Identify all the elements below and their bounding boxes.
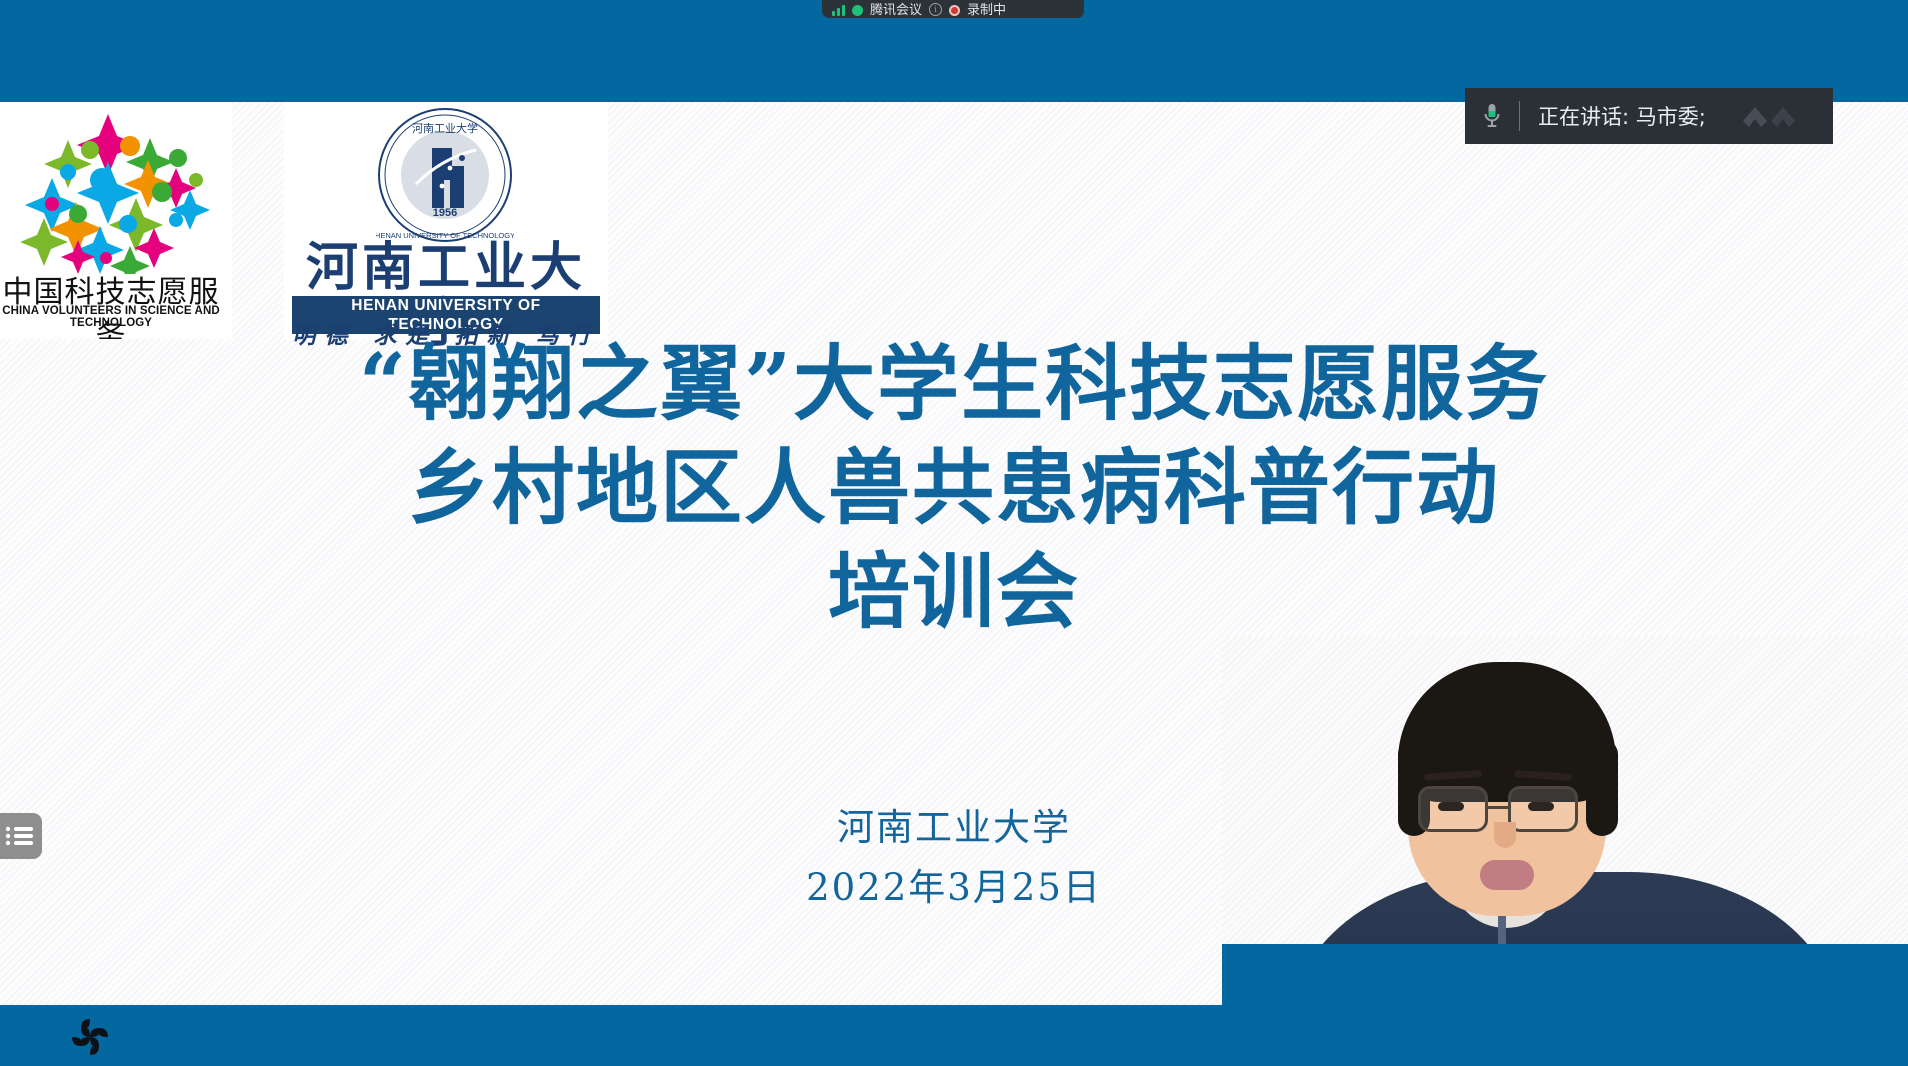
- henan-university-logo: 1956 河南工业大学 HENAN UNIVERSITY OF TECHNOLO…: [284, 102, 608, 340]
- slide-footer-band: [0, 1005, 1908, 1066]
- china-volunteers-brain-logo: [0, 106, 232, 274]
- record-dot-icon: [949, 5, 960, 16]
- outline-toggle-button[interactable]: [0, 813, 42, 859]
- china-volunteers-en-label: CHINA VOLUNTEERS IN SCIENCE AND TECHNOLO…: [0, 305, 232, 329]
- signal-bars-icon: [832, 5, 845, 16]
- title-line-2: 乡村地区人兽共患病科普行动: [0, 436, 1908, 540]
- pinwheel-logo: [72, 1019, 108, 1055]
- microphone-icon: [1465, 101, 1519, 131]
- bulleted-list-icon: [4, 825, 34, 847]
- presenter-bottom-band: [1222, 944, 1908, 1005]
- app-name-label: 腾讯会议: [870, 3, 922, 16]
- active-speaker-badge[interactable]: 正在讲话: 马市委;: [1465, 88, 1833, 144]
- presenter-video-tile[interactable]: [1222, 636, 1908, 1005]
- page-title: “翱翔之翼”大学生科技志愿服务 乡村地区人兽共患病科普行动 培训会: [0, 332, 1908, 644]
- green-dot-icon: [852, 5, 863, 16]
- info-icon[interactable]: i: [929, 3, 942, 16]
- svg-text:1956: 1956: [433, 207, 457, 219]
- tencent-meeting-status-bar[interactable]: 腾讯会议 i 录制中: [822, 0, 1084, 18]
- china-volunteers-logo: 中国科技志愿服务 CHINA VOLUNTEERS IN SCIENCE AND…: [0, 102, 232, 339]
- meeting-screen: 腾讯会议 i 录制中: [0, 0, 1908, 1066]
- title-line-3: 培训会: [0, 540, 1908, 644]
- active-speaker-label: 正在讲话: 马市委;: [1538, 101, 1706, 131]
- tencent-meeting-logo: [1737, 101, 1815, 133]
- title-line-1: “翱翔之翼”大学生科技志愿服务: [0, 332, 1908, 436]
- svg-text:河南工业大学: 河南工业大学: [412, 121, 478, 135]
- badge-divider: [1519, 101, 1520, 131]
- henan-university-of-technology-seal: 1956 河南工业大学 HENAN UNIVERSITY OF TECHNOLO…: [376, 106, 514, 244]
- recording-label: 录制中: [967, 3, 1006, 16]
